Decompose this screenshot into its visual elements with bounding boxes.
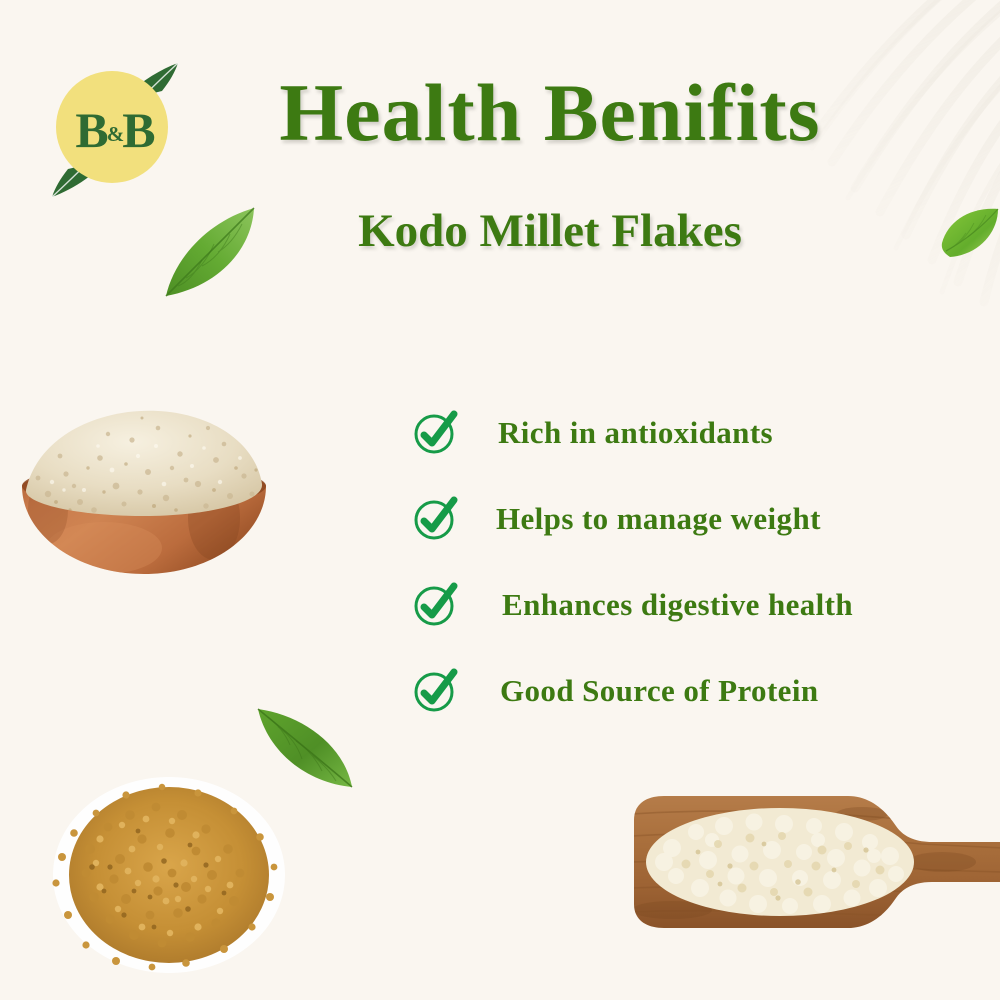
palm-shadow-icon — [640, 0, 1000, 330]
benefit-item: Rich in antioxidants — [412, 390, 952, 476]
millet-grain-pile — [38, 775, 300, 975]
leaf-top-left-icon — [158, 200, 268, 305]
benefit-label: Rich in antioxidants — [498, 415, 773, 451]
leaf-right-icon — [936, 203, 1000, 265]
benefit-item: Helps to manage weight — [412, 476, 952, 562]
page-title: Health Benifits — [200, 72, 900, 154]
logo-letter-left: B — [75, 101, 107, 159]
check-circle-icon — [412, 496, 458, 542]
check-circle-icon — [412, 582, 458, 628]
check-circle-icon — [412, 668, 458, 714]
check-circle-icon — [412, 410, 458, 456]
wooden-scoop-with-flakes — [612, 778, 1000, 946]
logo-letter-right: B — [122, 101, 154, 159]
benefit-label: Enhances digestive health — [502, 587, 853, 623]
leaf-mid-left-icon — [248, 697, 360, 797]
benefit-item: Good Source of Protein — [412, 648, 952, 734]
benefit-label: Helps to manage weight — [496, 501, 821, 537]
benefit-label: Good Source of Protein — [500, 673, 819, 709]
bb-logo-lettering: B&B — [40, 55, 190, 205]
bb-logo: B&B — [40, 55, 190, 205]
logo-ampersand: & — [107, 122, 124, 147]
poster-canvas: B&B Health Benifits Kodo Millet Flakes R… — [0, 0, 1000, 1000]
benefit-item: Enhances digestive health — [412, 562, 952, 648]
page-subtitle: Kodo Millet Flakes — [200, 208, 900, 255]
bowl-of-millet-flakes — [8, 398, 280, 578]
benefits-list: Rich in antioxidants Helps to manage wei… — [412, 390, 952, 734]
